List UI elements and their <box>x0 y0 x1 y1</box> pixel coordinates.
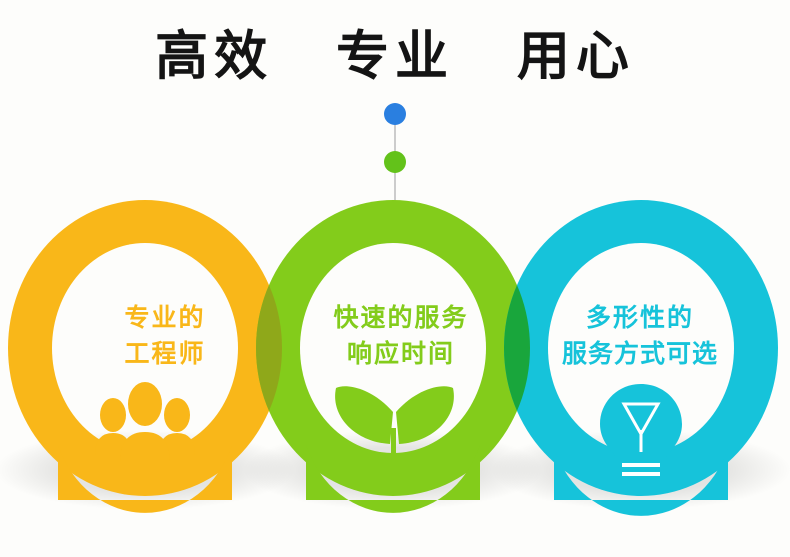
circle-label-line-1: 专业的 <box>60 300 270 336</box>
circle-label-line-2: 服务方式可选 <box>525 336 755 372</box>
circle-label-line-2: 响应时间 <box>296 336 506 372</box>
circle-label-line-1: 多形性的 <box>525 300 755 336</box>
venn-diagram <box>0 0 790 557</box>
circle-label-professional-engineers: 专业的 工程师 <box>60 300 270 372</box>
circle-label-line-1: 快速的服务 <box>296 300 506 336</box>
poster-canvas: 高效 专业 用心 <box>0 0 790 557</box>
circle-label-flexible-service-modes: 多形性的 服务方式可选 <box>525 300 755 372</box>
circle-label-line-2: 工程师 <box>60 336 270 372</box>
circle-label-fast-service-response: 快速的服务 响应时间 <box>296 300 506 372</box>
